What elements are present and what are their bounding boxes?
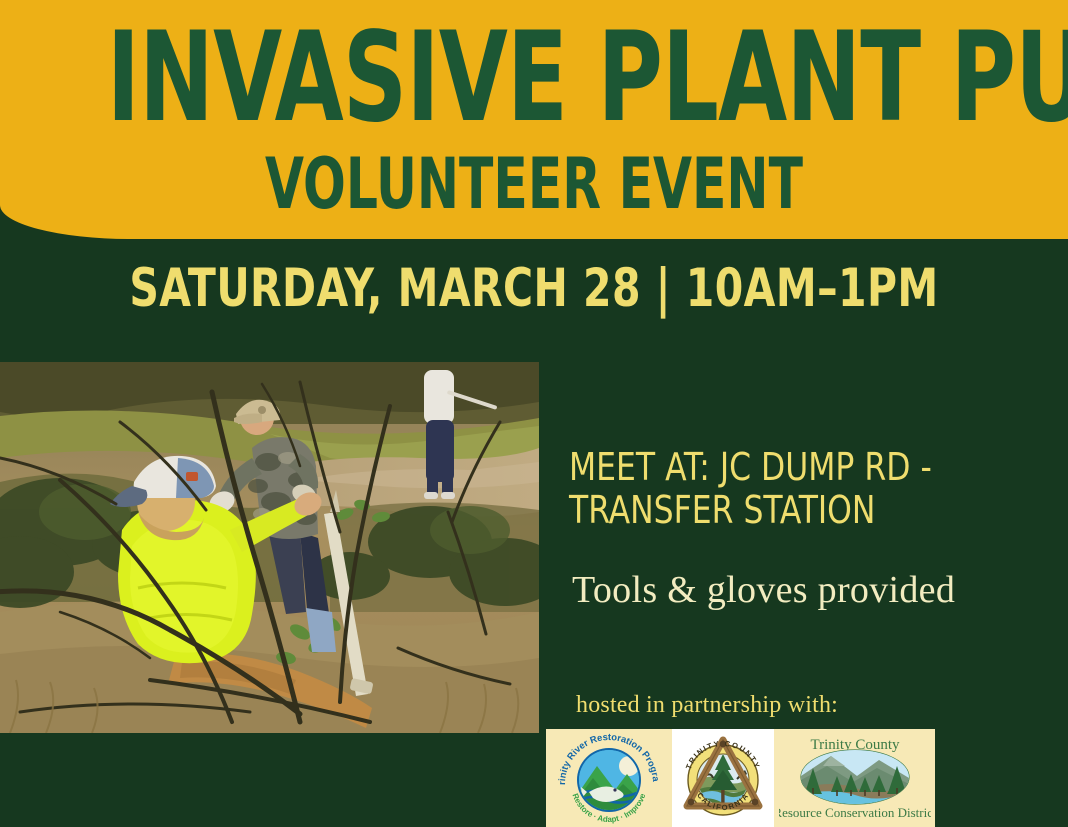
event-date-time: SATURDAY, MARCH 28 | 10AM–1PM: [75, 262, 993, 315]
volunteers-photo-illustration: [0, 362, 539, 733]
trrp-logo-icon: Trinity River Restoration Program Restor…: [553, 732, 665, 824]
tools-note: Tools & gloves provided: [572, 568, 955, 612]
page-subtitle: VOLUNTEER EVENT: [107, 149, 961, 219]
hosted-label: hosted in partnership with:: [576, 691, 838, 719]
meet-location: MEET AT: JC DUMP RD -TRANSFER STATION: [569, 446, 1001, 532]
page-title: INVASIVE PLANT PULL: [107, 16, 961, 140]
partner-logos: Trinity River Restoration Program Restor…: [546, 729, 935, 827]
event-photo: [0, 362, 539, 733]
trinity-county-rcd-icon: Trinity County: [779, 732, 931, 824]
header-banner: INVASIVE PLANT PULL VOLUNTEER EVENT: [0, 0, 1068, 239]
logo-trinity-county-rcd: Trinity County: [774, 729, 935, 827]
logo-trinity-river-restoration-program: Trinity River Restoration Program Restor…: [546, 729, 672, 827]
logo-trinity-county-seal: TRINITY COUNTY CALIFORNIA: [672, 729, 774, 827]
trinity-county-seal-icon: TRINITY COUNTY CALIFORNIA: [677, 732, 769, 824]
poster-root: INVASIVE PLANT PULL VOLUNTEER EVENT SATU…: [0, 0, 1068, 827]
svg-text:Resource Conservation District: Resource Conservation District: [779, 805, 931, 820]
